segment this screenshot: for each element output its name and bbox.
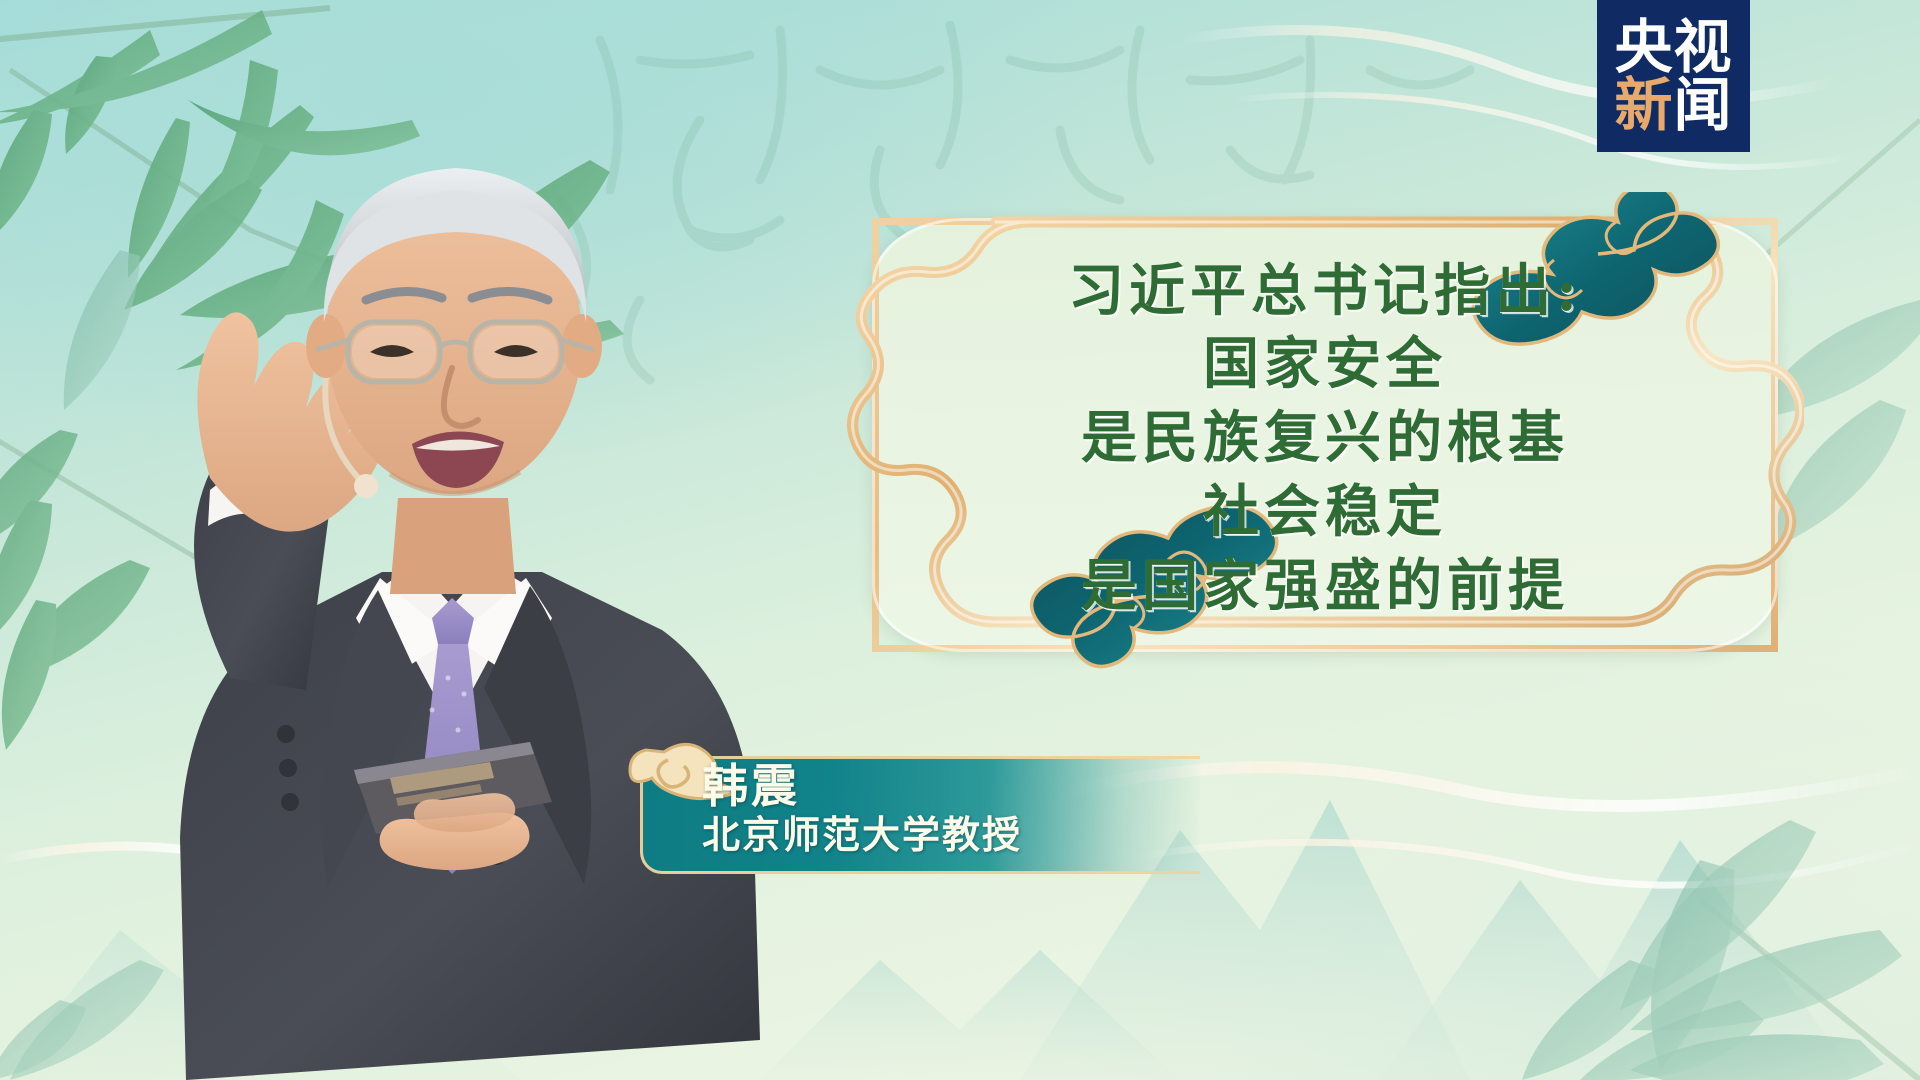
logo-char-yang: 央: [1614, 18, 1673, 76]
speaker-title: 北京师范大学教授: [702, 812, 1182, 858]
quote-line-5: 是国家强盛的前提: [1081, 551, 1569, 623]
logo-char-shi: 视: [1674, 18, 1733, 76]
nameplate-text: 韩震 北京师范大学教授: [702, 762, 1182, 858]
quote-line-4: 社会稳定: [1203, 477, 1447, 549]
speaker-nameplate: 韩震 北京师范大学教授: [640, 748, 1200, 880]
quote-text-block: 习近平总书记指出: 国家安全 是民族复兴的根基 社会稳定 是国家强盛的前提: [872, 244, 1778, 634]
cctv-news-logo: 央 视 新 闻: [1597, 0, 1750, 152]
quote-line-1: 习近平总书记指出:: [1068, 256, 1582, 328]
bamboo-bottom-right: [1522, 820, 1920, 1080]
studio-guest: [60, 78, 840, 1080]
quote-card: 习近平总书记指出: 国家安全 是民族复兴的根基 社会稳定 是国家强盛的前提: [872, 218, 1778, 652]
logo-char-xin: 新: [1614, 76, 1673, 134]
broadcast-frame: 央 视 新 闻: [0, 0, 1920, 1080]
logo-char-wen: 闻: [1674, 76, 1733, 134]
quote-line-3: 是民族复兴的根基: [1081, 403, 1569, 475]
quote-line-2: 国家安全: [1203, 329, 1447, 401]
speaker-name: 韩震: [702, 762, 1182, 810]
